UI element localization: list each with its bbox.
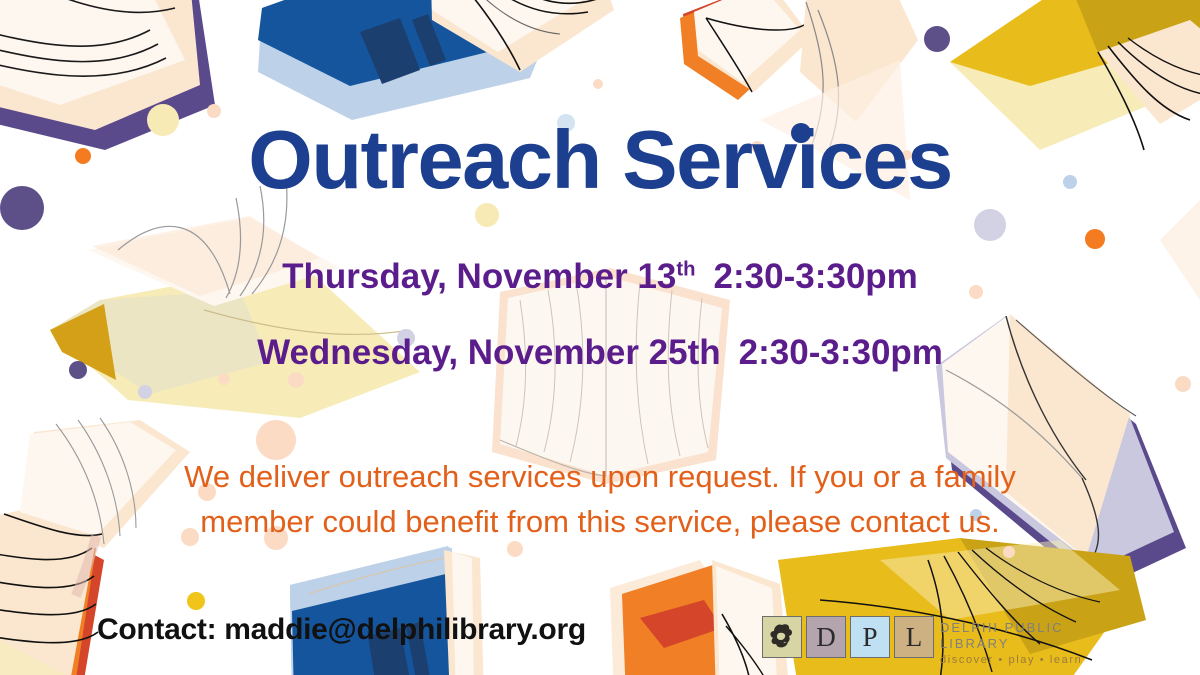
event-time-1: 2:30-3:30pm [714, 257, 918, 296]
description-line-1: We deliver outreach services upon reques… [0, 455, 1200, 500]
description-line-2: member could benefit from this service, … [0, 500, 1200, 545]
dpl-letter-l: L [894, 616, 934, 658]
library-name: DELPHI PUBLIC LIBRARY [940, 620, 1102, 653]
event-date-1: Thursday, November 13 [282, 257, 676, 296]
dpl-logo: D P L DELPHI PUBLIC LIBRARY discover • p… [762, 616, 1102, 666]
dpl-logo-squares: D P L [762, 616, 934, 658]
contact-email-text: Contact: maddie@delphilibrary.org [97, 613, 586, 647]
event-date-line-2: Wednesday, November 25th2:30-3:30pm [0, 333, 1200, 373]
library-tagline: discover • play • learn [940, 654, 1102, 668]
description-text: We deliver outreach services upon reques… [0, 455, 1200, 545]
outreach-services-flyer: Outreach Services Thursday, November 13t… [0, 0, 1200, 675]
dpl-letter-d: D [806, 616, 846, 658]
event-date-line-1: Thursday, November 13th2:30-3:30pm [0, 257, 1200, 297]
event-date-2: Wednesday, November 25th [257, 333, 721, 372]
reading-figure-icon [762, 616, 802, 658]
dpl-logo-wordmark: DELPHI PUBLIC LIBRARY discover • play • … [940, 620, 1102, 667]
page-title: Outreach Services [0, 118, 1200, 201]
event-date-1-ordinal: th [676, 258, 695, 280]
event-time-2: 2:30-3:30pm [739, 333, 943, 372]
dpl-letter-p: P [850, 616, 890, 658]
